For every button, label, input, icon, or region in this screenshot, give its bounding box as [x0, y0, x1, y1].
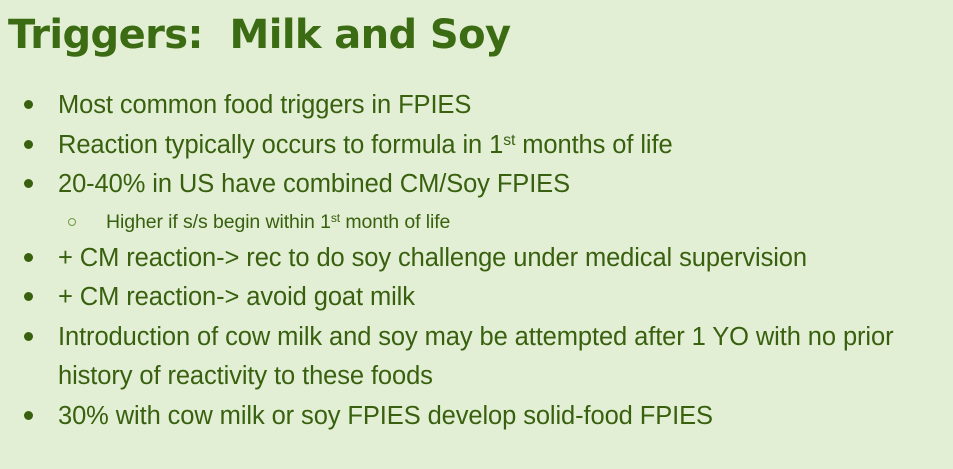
bullet-disc-icon [24, 292, 33, 301]
bullet-list: Most common food triggers in FPIES React… [0, 86, 953, 436]
bullet-circle-icon [68, 218, 76, 226]
list-item-text: + CM reaction-> rec to do soy challenge … [58, 239, 923, 279]
list-item: + CM reaction-> rec to do soy challenge … [0, 239, 953, 279]
bullet-disc-icon [24, 100, 33, 109]
list-item-text-before: Reaction typically occurs to formula in … [58, 131, 503, 159]
list-item: 30% with cow milk or soy FPIES develop s… [0, 397, 953, 437]
bullet-disc-icon [24, 140, 33, 149]
list-item-text: 30% with cow milk or soy FPIES develop s… [58, 397, 923, 437]
page-title: Triggers: Milk and Soy [8, 13, 510, 57]
sub-list-item: Higher if s/s begin within 1st month of … [0, 205, 953, 239]
list-item: Reaction typically occurs to formula in … [0, 126, 953, 166]
bullet-disc-icon [24, 253, 33, 262]
list-item-text: Introduction of cow milk and soy may be … [58, 318, 923, 397]
list-item-text-after: months of life [515, 131, 672, 159]
bullet-disc-icon [24, 332, 33, 341]
sub-list-item-text-before: Higher if s/s begin within 1 [106, 211, 331, 233]
ordinal-suffix: st [503, 132, 515, 149]
bullet-disc-icon [24, 411, 33, 420]
list-item-text: 20-40% in US have combined CM/Soy FPIES [58, 165, 923, 205]
list-item-text: + CM reaction-> avoid goat milk [58, 278, 923, 318]
bullet-disc-icon [24, 179, 33, 188]
ordinal-suffix: st [331, 210, 340, 224]
list-item-text: Reaction typically occurs to formula in … [58, 126, 923, 166]
list-item: 20-40% in US have combined CM/Soy FPIES [0, 165, 953, 205]
slide: Triggers: Milk and Soy Most common food … [0, 0, 953, 469]
sub-list-item-text: Higher if s/s begin within 1st month of … [106, 205, 923, 239]
list-item-text: Most common food triggers in FPIES [58, 86, 923, 126]
list-item: Most common food triggers in FPIES [0, 86, 953, 126]
sub-list-item-text-after: month of life [340, 211, 450, 233]
list-item: Introduction of cow milk and soy may be … [0, 318, 953, 397]
list-item: + CM reaction-> avoid goat milk [0, 278, 953, 318]
